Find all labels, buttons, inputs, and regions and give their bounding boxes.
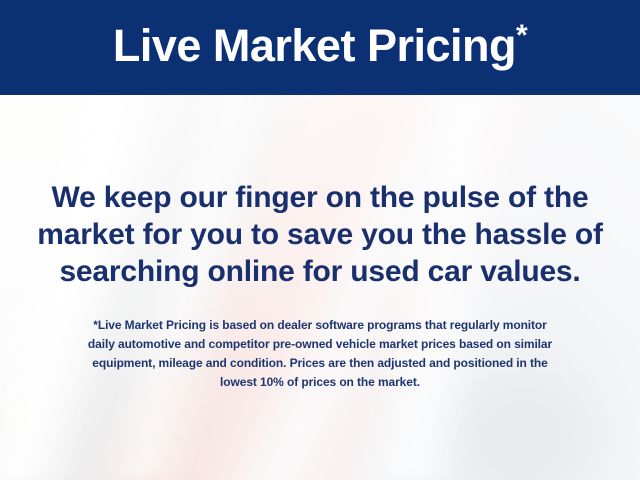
live-market-pricing-card: Live Market Pricing* We keep our finger …: [0, 0, 640, 480]
disclaimer-line-2: daily automotive and competitor pre-owne…: [0, 335, 640, 354]
banner-title-text: Live Market Pricing: [113, 20, 516, 71]
disclaimer-line-4: lowest 10% of prices on the market.: [0, 373, 640, 392]
header-banner: Live Market Pricing*: [0, 0, 640, 95]
headline-line-1: We keep our finger on the pulse of the: [0, 179, 640, 216]
banner-title: Live Market Pricing*: [113, 23, 527, 68]
headline-line-3: searching online for used car values.: [0, 253, 640, 290]
disclaimer-text: *Live Market Pricing is based on dealer …: [0, 316, 640, 392]
disclaimer-line-1: *Live Market Pricing is based on dealer …: [0, 316, 640, 335]
headline: We keep our finger on the pulse of the m…: [0, 179, 640, 290]
banner-title-asterisk: *: [516, 19, 527, 52]
disclaimer-line-3: equipment, mileage and condition. Prices…: [0, 354, 640, 373]
headline-line-2: market for you to save you the hassle of: [0, 216, 640, 253]
